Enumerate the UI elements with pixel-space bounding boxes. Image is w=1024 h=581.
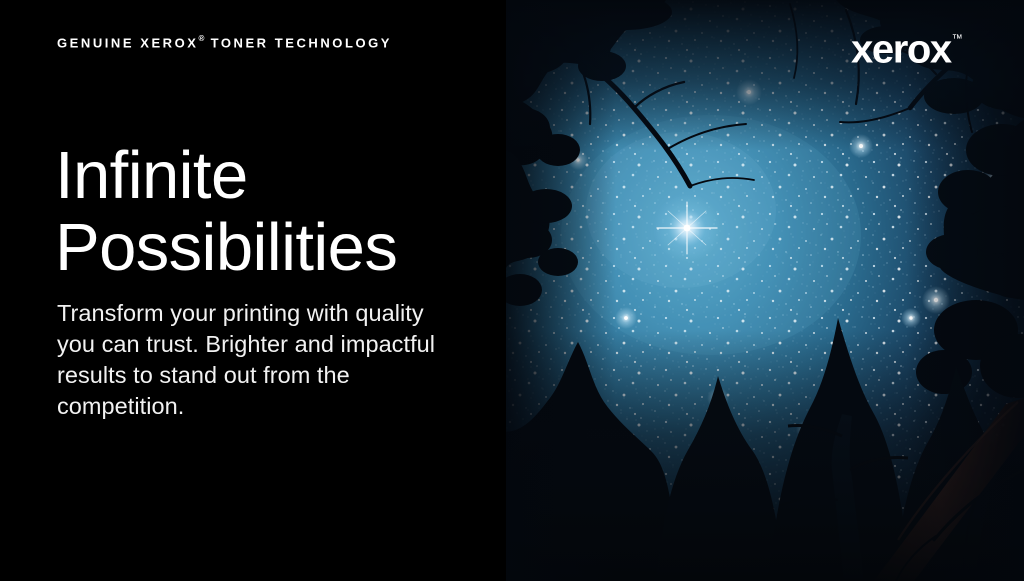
eyebrow-prefix: GENUINE XEROX	[57, 35, 199, 50]
xerox-wordmark: xerox	[851, 27, 951, 71]
hero-image-panel	[506, 0, 1024, 581]
xerox-logo: xerox™	[851, 25, 962, 69]
starry-forest-image	[506, 0, 1024, 581]
trademark-icon: ™	[952, 33, 963, 45]
eyebrow-suffix: TONER TECHNOLOGY	[204, 35, 392, 50]
page-title: Infinite Possibilities	[55, 140, 397, 284]
eyebrow-text: GENUINE XEROX® TONER TECHNOLOGY	[57, 32, 392, 51]
body-copy: Transform your printing with quality you…	[57, 298, 457, 422]
text-panel: GENUINE XEROX® TONER TECHNOLOGY Infinite…	[0, 0, 506, 581]
registered-trademark-icon: ®	[199, 34, 205, 43]
bright-star	[653, 194, 721, 262]
promo-banner: GENUINE XEROX® TONER TECHNOLOGY Infinite…	[0, 0, 1024, 581]
